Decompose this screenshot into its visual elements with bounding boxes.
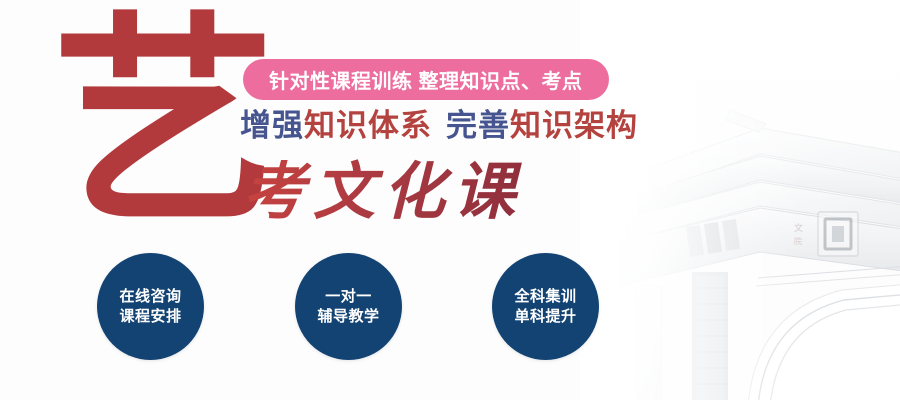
svg-text:院: 院 [794, 236, 802, 246]
circle-badge-line2: 课程安排 [119, 307, 181, 327]
brand-calligraphy-yi: 艺 [52, 8, 267, 238]
circle-badge-online-consult[interactable]: 在线咨询 课程安排 [97, 253, 204, 360]
headline-part-3: 完善 [446, 108, 510, 143]
circle-badge-one-on-one[interactable]: 一对一 辅导教学 [295, 253, 402, 360]
circle-badge-line1: 一对一 [325, 287, 372, 307]
circle-badge-line2: 单科提升 [514, 307, 576, 327]
headline-part-1: 增强 [240, 108, 304, 143]
svg-text:文: 文 [794, 222, 803, 234]
headline-part-2: 知识体系 [304, 108, 432, 143]
promo-banner: 文 院 艺 [0, 0, 900, 400]
badge-label: 针对性课程训练 整理知识点、考点 [269, 65, 583, 94]
headline-part-4: 知识架构 [510, 108, 638, 143]
circle-badge-row: 在线咨询 课程安排 一对一 辅导教学 全科集训 单科提升 [0, 253, 640, 365]
brush-calligraphy-subtitle: 考文化课 [243, 156, 523, 228]
circle-badge-line2: 辅导教学 [317, 307, 379, 327]
circle-badge-line1: 全科集训 [514, 287, 576, 307]
course-feature-badge: 针对性课程训练 整理知识点、考点 [243, 59, 609, 100]
circle-badge-line1: 在线咨询 [119, 287, 181, 307]
circle-badge-full-subject[interactable]: 全科集训 单科提升 [492, 253, 599, 360]
headline: 增强知识体系完善知识架构 [240, 106, 638, 146]
